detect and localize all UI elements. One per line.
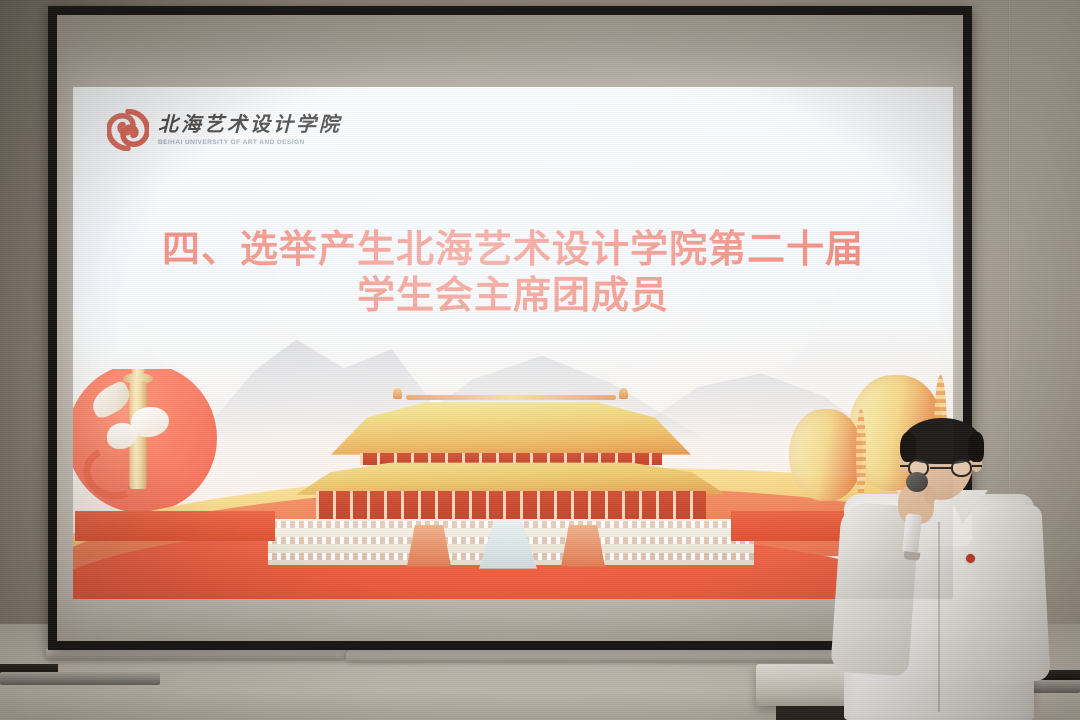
swirl-spiral-icon [107, 109, 149, 151]
presentation-slide[interactable]: 北海艺术设计学院 BEIHAI UNIVERSITY OF ART AND DE… [73, 87, 953, 599]
ornamental-column-huabiao [93, 369, 183, 531]
microphone-tip [904, 551, 921, 561]
university-logo: 北海艺术设计学院 BEIHAI UNIVERSITY OF ART AND DE… [107, 109, 342, 151]
title-line-1: 四、选举产生北海艺术设计学院第二十届 [73, 227, 953, 273]
projection-board: 北海艺术设计学院 BEIHAI UNIVERSITY OF ART AND DE… [48, 6, 972, 650]
thumb [924, 486, 936, 504]
palace-colonnade [316, 491, 706, 521]
palace-upper-roof [331, 397, 691, 455]
rail-segment [0, 672, 160, 685]
student-speaker [838, 418, 1048, 720]
glasses-bridge [930, 467, 951, 469]
classroom-scene: 北海艺术设计学院 BEIHAI UNIVERSITY OF ART AND DE… [0, 0, 1080, 720]
palace-roof-ridge [406, 395, 616, 400]
logo-text-group: 北海艺术设计学院 BEIHAI UNIVERSITY OF ART AND DE… [158, 115, 342, 146]
slide-artwork [73, 369, 953, 599]
title-line-2: 学生会主席团成员 [73, 273, 953, 319]
palace-side-wall [75, 511, 275, 541]
right-arm [973, 504, 1050, 683]
microphone-head [906, 472, 928, 492]
glasses-lens-right [951, 459, 972, 477]
logo-name-en: BEIHAI UNIVERSITY OF ART AND DESIGN [158, 139, 342, 146]
shirt-placket [938, 522, 940, 712]
palace-pillars [316, 491, 706, 521]
board-surface: 北海艺术设计学院 BEIHAI UNIVERSITY OF ART AND DE… [57, 15, 963, 641]
glasses-temple [972, 465, 982, 467]
roof-ornament [393, 388, 402, 399]
glasses-temple [900, 465, 909, 467]
huabiao-wing [87, 379, 134, 420]
logo-name-cn: 北海艺术设计学院 [158, 115, 342, 135]
forbidden-city-hall [261, 391, 761, 571]
chest-badge [966, 554, 975, 563]
slide-title: 四、选举产生北海艺术设计学院第二十届 学生会主席团成员 [73, 227, 953, 320]
roof-ornament [619, 388, 628, 399]
palace-lower-roof [296, 461, 726, 495]
